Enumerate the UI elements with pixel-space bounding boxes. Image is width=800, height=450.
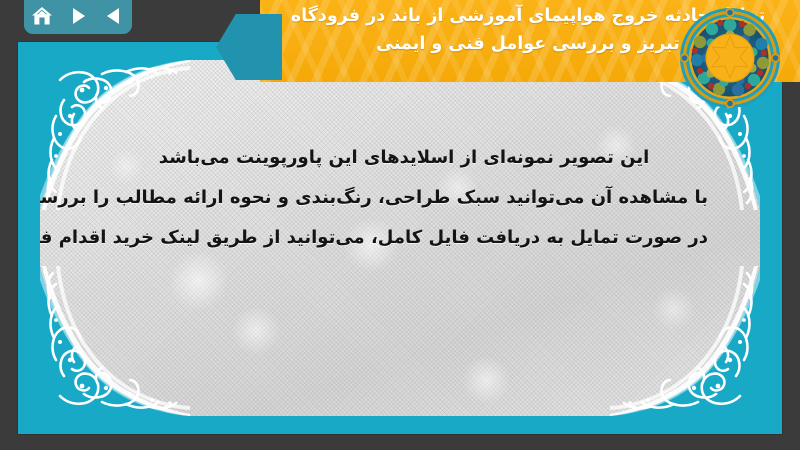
forward-button[interactable]: [65, 3, 91, 29]
body-line: با مشاهده آن می‌توانید سبک طراحی، رنگ‌بن…: [100, 178, 708, 218]
back-triangle-icon: [103, 5, 125, 27]
body-line: در صورت تمایل به دریافت فایل کامل، می‌تو…: [100, 218, 708, 258]
slide-frame: این تصویر نمونه‌ای از اسلایدهای این پاور…: [18, 42, 782, 434]
home-icon: [30, 5, 54, 27]
arabesque-corner-ornament: [610, 266, 760, 416]
back-button[interactable]: [101, 3, 127, 29]
slide-canvas: این تصویر نمونه‌ای از اسلایدهای این پاور…: [40, 60, 760, 416]
slide-body-text: این تصویر نمونه‌ای از اسلایدهای این پاور…: [100, 138, 708, 258]
slide-viewer: تحلیل حادثه خروج هواپیمای آموزشی از باند…: [0, 0, 800, 450]
persian-medallion-ornament: [678, 6, 782, 110]
arabesque-corner-ornament: [40, 266, 190, 416]
forward-triangle-icon: [67, 5, 89, 27]
body-line: این تصویر نمونه‌ای از اسلایدهای این پاور…: [100, 138, 708, 178]
navigation-toolbar: [24, 0, 132, 34]
home-button[interactable]: [29, 3, 55, 29]
